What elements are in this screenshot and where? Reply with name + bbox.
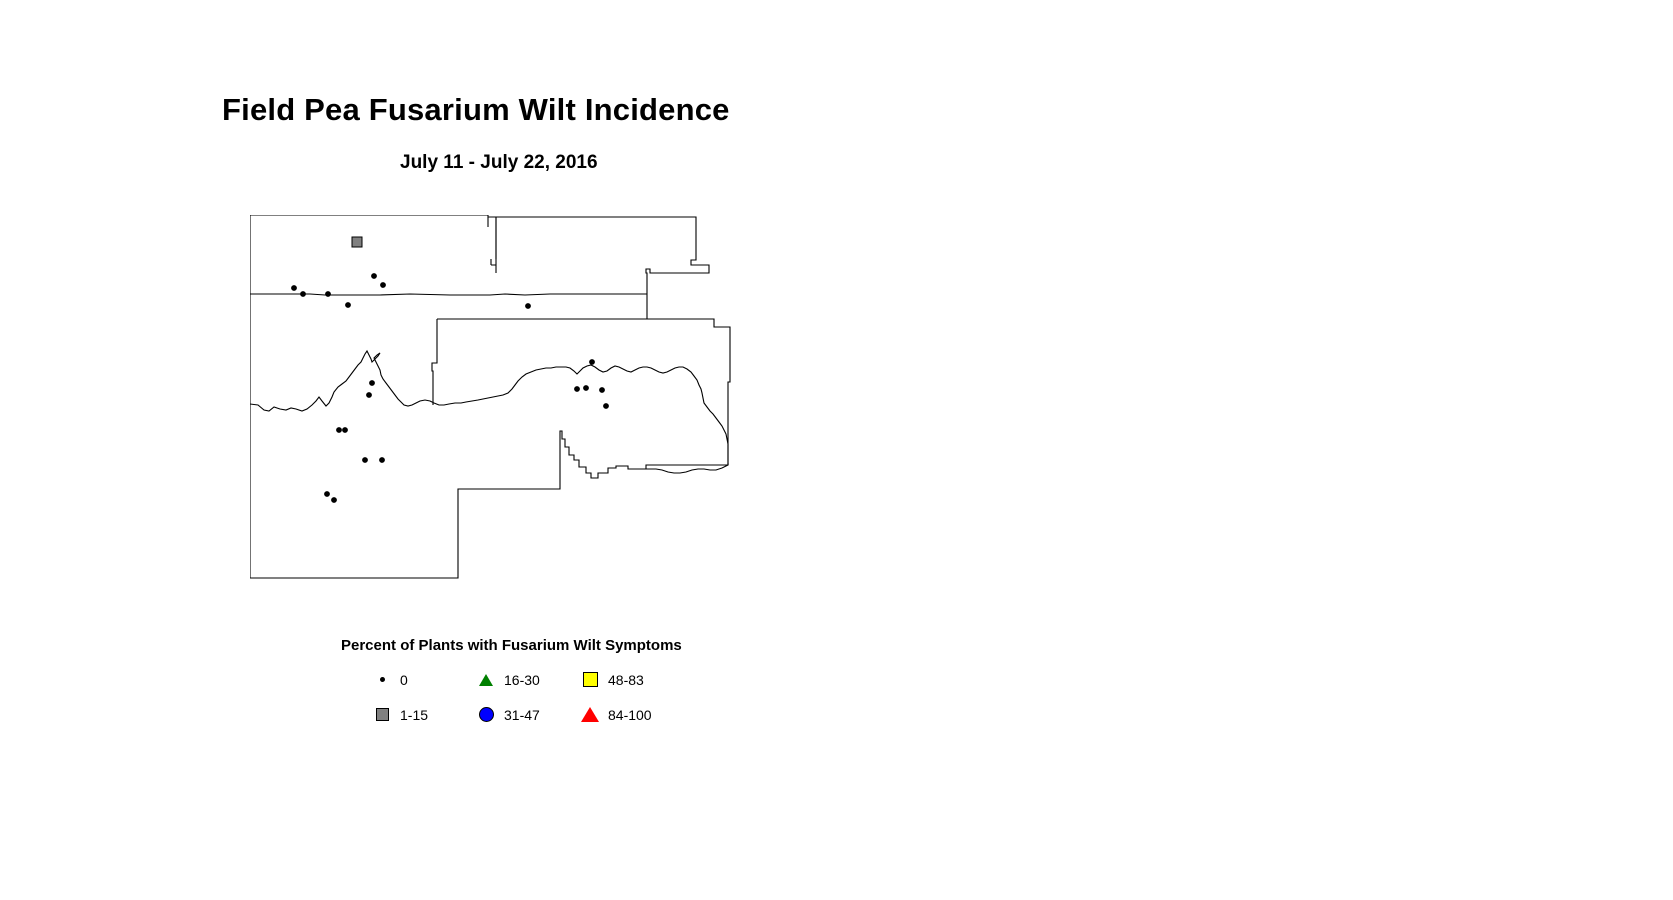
survey-point — [345, 302, 351, 308]
page-title: Field Pea Fusarium Wilt Incidence — [222, 92, 730, 128]
legend-item-0: 0 — [370, 670, 474, 690]
survey-point — [525, 303, 531, 309]
survey-point — [380, 282, 386, 288]
legend-label-31-47: 31-47 — [504, 707, 540, 723]
map-svg — [250, 215, 780, 595]
gray-square-icon — [370, 705, 394, 725]
survey-point — [574, 386, 580, 392]
survey-point — [379, 457, 385, 463]
legend-row-2: 1-15 31-47 84-100 — [370, 697, 690, 732]
legend-label-84-100: 84-100 — [608, 707, 652, 723]
survey-point — [599, 387, 605, 393]
green-triangle-icon — [474, 670, 498, 690]
yellow-square-icon — [578, 670, 602, 690]
blue-circle-icon — [474, 705, 498, 725]
legend-item-1-15: 1-15 — [370, 705, 474, 725]
survey-point — [583, 385, 589, 391]
survey-point — [352, 237, 362, 247]
survey-point — [603, 403, 609, 409]
red-triangle-icon — [578, 705, 602, 725]
legend-item-31-47: 31-47 — [474, 705, 578, 725]
survey-point — [369, 380, 375, 386]
legend-label-1-15: 1-15 — [400, 707, 428, 723]
legend-title: Percent of Plants with Fusarium Wilt Sym… — [341, 637, 682, 654]
survey-point — [331, 497, 337, 503]
legend-label-0: 0 — [400, 672, 408, 688]
river-boundary-east — [646, 465, 728, 473]
small-dot-icon — [370, 670, 394, 690]
survey-point — [342, 427, 348, 433]
northwest-south-boundary — [250, 294, 647, 295]
survey-point — [324, 491, 330, 497]
region-outer-boundary — [250, 215, 730, 578]
map-boundaries — [250, 215, 730, 578]
survey-point — [362, 457, 368, 463]
survey-point — [336, 427, 342, 433]
fusarium-wilt-map-figure: Field Pea Fusarium Wilt Incidence July 1… — [0, 0, 1673, 900]
survey-points-layer — [291, 237, 609, 503]
legend-label-16-30: 16-30 — [504, 672, 540, 688]
survey-point — [291, 285, 297, 291]
legend-item-48-83: 48-83 — [578, 670, 682, 690]
north-block-left-edge — [491, 217, 496, 265]
survey-point — [589, 359, 595, 365]
survey-point — [300, 291, 306, 297]
center-east-county-west-edge — [432, 319, 437, 405]
page-subtitle: July 11 - July 22, 2016 — [400, 152, 598, 174]
survey-point — [325, 291, 331, 297]
legend-row-1: 0 16-30 48-83 — [370, 662, 690, 697]
legend-item-16-30: 16-30 — [474, 670, 578, 690]
legend-label-48-83: 48-83 — [608, 672, 644, 688]
survey-point — [366, 392, 372, 398]
map-panel — [250, 215, 780, 595]
legend-item-84-100: 84-100 — [578, 705, 682, 725]
survey-point — [371, 273, 377, 279]
river-boundary — [250, 351, 728, 465]
legend: 0 16-30 48-83 1-15 31-47 84-100 — [370, 662, 690, 732]
